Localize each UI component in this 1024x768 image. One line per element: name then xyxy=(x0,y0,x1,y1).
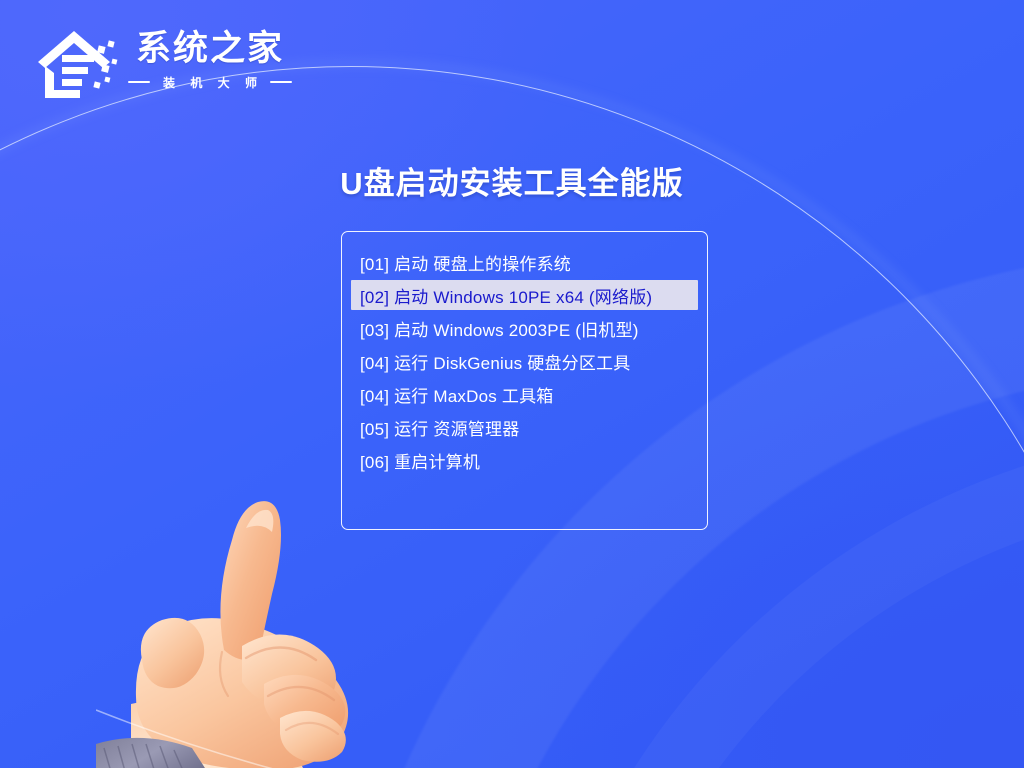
brand-logo: 系统之家 装 机 大 师 xyxy=(34,16,304,108)
brand-tagline: 装 机 大 师 xyxy=(157,74,263,91)
boot-menu-item-03[interactable]: [03] 启动 Windows 2003PE (旧机型) xyxy=(351,313,698,343)
brand-tagline-row: 装 机 大 师 xyxy=(128,74,292,91)
boot-menu-item-04[interactable]: [04] 运行 DiskGenius 硬盘分区工具 xyxy=(351,346,698,376)
boot-menu-item-04[interactable]: [04] 运行 MaxDos 工具箱 xyxy=(351,379,698,409)
boot-menu-item-01[interactable]: [01] 启动 硬盘上的操作系统 xyxy=(351,247,698,277)
boot-menu-item-05[interactable]: [05] 运行 资源管理器 xyxy=(351,412,698,442)
boot-menu-list: [01] 启动 硬盘上的操作系统[02] 启动 Windows 10PE x64… xyxy=(342,247,707,475)
page-title: U盘启动安装工具全能版 xyxy=(0,158,1024,203)
house-pixel-logo-icon xyxy=(34,22,120,102)
dash-rule-icon xyxy=(270,81,292,83)
boot-menu-screen: 系统之家 装 机 大 师 U盘启动安装工具全能版 [01] 启动 硬盘上的操作系… xyxy=(0,0,1024,768)
brand-name: 系统之家 xyxy=(136,31,284,68)
dash-rule-icon xyxy=(128,81,150,83)
boot-menu-item-06[interactable]: [06] 重启计算机 xyxy=(351,445,698,475)
brand-text-block: 系统之家 装 机 大 师 xyxy=(128,31,292,93)
boot-menu-item-02[interactable]: [02] 启动 Windows 10PE x64 (网络版) xyxy=(351,280,698,310)
pointing-hand-illustration xyxy=(96,482,426,768)
